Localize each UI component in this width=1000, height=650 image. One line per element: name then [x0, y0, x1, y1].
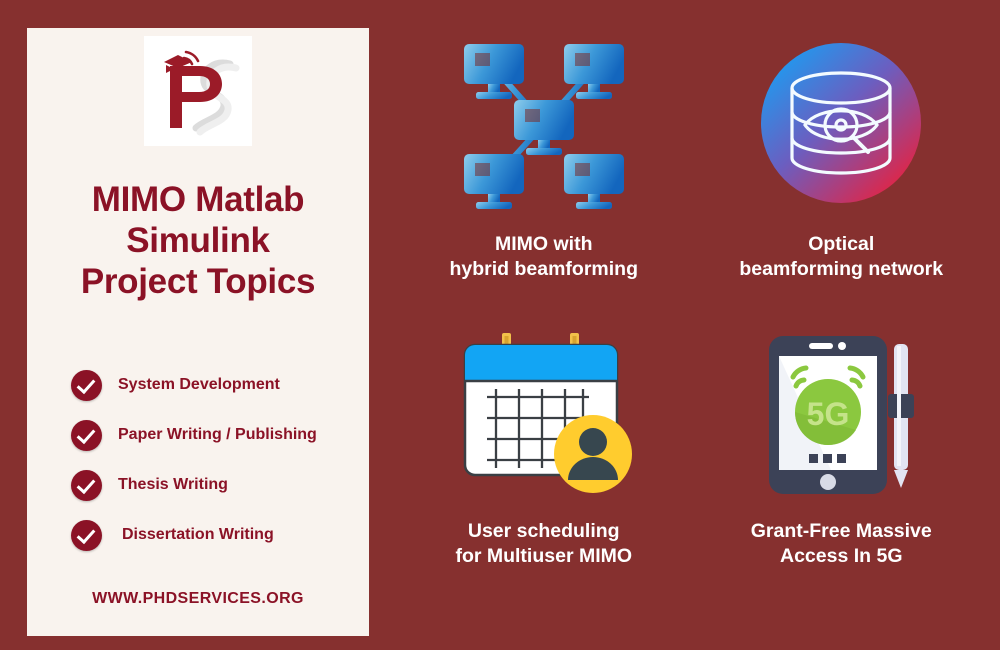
title-line-3: Project Topics — [27, 262, 369, 303]
service-label: Thesis Writing — [118, 476, 228, 494]
topic-caption: MIMO with hybrid beamforming — [449, 232, 638, 283]
topic-caption: Optical beamforming network — [739, 232, 943, 283]
topic-card-grant-free-massive-access: 5G Grant-Free Massive Access In 5G — [698, 327, 986, 622]
topic-card-optical-beamforming-network: Optical beamforming network — [698, 28, 986, 323]
list-item: System Development — [71, 360, 369, 410]
service-label: Paper Writing / Publishing — [118, 426, 317, 444]
service-label: Dissertation Writing — [122, 526, 274, 544]
infographic-page: MIMO Matlab Simulink Project Topics Syst… — [0, 0, 1000, 650]
check-circle-icon — [71, 370, 102, 401]
list-item: Paper Writing / Publishing — [71, 410, 369, 460]
page-title: MIMO Matlab Simulink Project Topics — [27, 180, 369, 303]
check-circle-icon — [71, 420, 102, 451]
database-eye-search-icon — [758, 40, 924, 206]
topic-art — [449, 327, 639, 503]
calendar-user-icon — [449, 331, 639, 499]
list-item: Dissertation Writing — [71, 510, 369, 560]
website-url[interactable]: WWW.PHDSERVICES.ORG — [92, 590, 304, 608]
topic-grid: MIMO with hybrid beamforming — [400, 28, 985, 622]
service-list: System Development Paper Writing / Publi… — [27, 360, 369, 560]
topic-caption: User scheduling for Multiuser MIMO — [455, 519, 632, 570]
title-line-1: MIMO Matlab — [27, 180, 369, 221]
topic-art — [454, 28, 634, 218]
left-info-card: MIMO Matlab Simulink Project Topics Syst… — [27, 28, 369, 636]
title-line-2: Simulink — [27, 221, 369, 262]
brand-logo — [144, 36, 252, 146]
topic-caption: Grant-Free Massive Access In 5G — [751, 519, 932, 570]
list-item: Thesis Writing — [71, 460, 369, 510]
topic-art — [758, 28, 924, 218]
check-circle-icon — [71, 470, 102, 501]
topic-art: 5G — [751, 327, 931, 503]
check-circle-icon — [71, 520, 102, 551]
logo-artwork — [144, 36, 252, 146]
stylus — [888, 344, 914, 488]
service-label: System Development — [118, 376, 280, 394]
topic-card-user-scheduling: User scheduling for Multiuser MIMO — [400, 327, 688, 622]
svg-text:5G: 5G — [807, 396, 850, 432]
topic-card-mimo-hybrid-beamforming: MIMO with hybrid beamforming — [400, 28, 688, 323]
tablet-5g-icon: 5G — [751, 332, 931, 498]
computer-network-icon — [454, 36, 634, 211]
